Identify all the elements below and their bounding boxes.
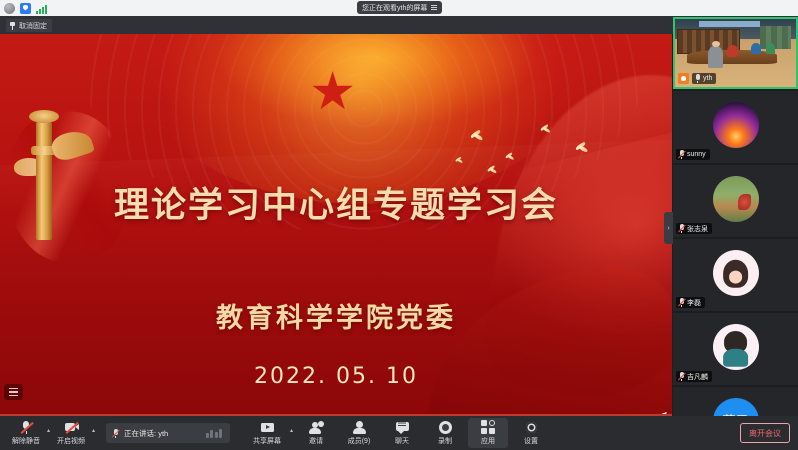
- audio-options-chevron-icon[interactable]: ▴: [47, 427, 50, 440]
- record-circle-icon: [438, 421, 453, 434]
- unpin-button[interactable]: 取消固定: [6, 19, 52, 32]
- person-icon: [352, 421, 367, 434]
- mic-muted-icon: [19, 421, 34, 434]
- participant-rail[interactable]: yth sunny 张志泉 李磊: [673, 17, 798, 416]
- grid-apps-icon: [481, 420, 495, 434]
- chat-bubble-icon: [395, 421, 410, 434]
- apps-button[interactable]: 应用: [468, 418, 508, 448]
- slide-title: 理论学习中心组专题学习会: [0, 177, 672, 228]
- shared-screen-stage[interactable]: 理论学习中心组专题学习会 教育科学学院党委 2022. 05. 10: [0, 34, 672, 416]
- leave-meeting-button[interactable]: 离开会议: [740, 423, 790, 443]
- meeting-toolbar: 解除静音 ▴ 开启视频 ▴ 正在讲话: yth 共享屏幕 ▴ 邀请: [0, 416, 798, 450]
- mic-muted-icon: [678, 150, 685, 159]
- active-speaker-indicator: 正在讲话: yth: [106, 423, 230, 443]
- toolbar-left-group: 解除静音 ▴ 开启视频 ▴ 正在讲话: yth: [0, 421, 230, 446]
- chat-label: 聊天: [395, 436, 409, 446]
- participant-tile-jifanlin[interactable]: 吉凡麟: [673, 313, 798, 385]
- share-screen-button[interactable]: 共享屏幕: [247, 421, 287, 446]
- pin-icon: [9, 22, 16, 30]
- toolbar-center-group: 共享屏幕 ▴ 邀请 成员(9) 聊天 录制 应用: [247, 418, 551, 448]
- chat-button[interactable]: 聊天: [382, 421, 422, 446]
- members-label: 成员(9): [348, 436, 371, 446]
- mic-muted-icon: [678, 298, 685, 307]
- participant-name: yth: [703, 75, 712, 82]
- mic-icon: [112, 429, 119, 438]
- participant-name: 吉凡麟: [687, 372, 708, 382]
- participant-name-badge: 张志泉: [676, 223, 712, 234]
- signal-bars-icon[interactable]: [36, 3, 47, 14]
- participant-tile-yth[interactable]: yth: [673, 17, 798, 89]
- participant-name: sunny: [687, 151, 706, 158]
- slide-subtitle: 教育科学学院党委: [0, 296, 672, 335]
- shield-icon[interactable]: [20, 3, 31, 14]
- participant-tile-lilei[interactable]: 李磊: [673, 239, 798, 311]
- participant-name-badge: 李磊: [676, 297, 705, 308]
- active-speaker-label: 正在讲话: yth: [124, 428, 168, 439]
- unmute-button[interactable]: 解除静音: [6, 421, 46, 446]
- start-video-button[interactable]: 开启视频: [51, 421, 91, 446]
- start-video-label: 开启视频: [57, 436, 85, 446]
- screen-share-notice[interactable]: 您正在观看yth的屏幕: [357, 1, 442, 14]
- audio-waveform-icon: [206, 429, 223, 438]
- unmute-label: 解除静音: [12, 436, 40, 446]
- mic-icon: [694, 74, 701, 83]
- leave-meeting-label: 离开会议: [749, 428, 781, 439]
- invite-button[interactable]: 邀请: [296, 421, 336, 446]
- presentation-slide: 理论学习中心组专题学习会 教育科学学院党委 2022. 05. 10: [0, 34, 672, 414]
- record-label: 录制: [438, 436, 452, 446]
- mic-muted-icon: [678, 224, 685, 233]
- list-menu-icon[interactable]: [431, 5, 437, 10]
- participant-tile-zhangzhiquan[interactable]: 张志泉: [673, 165, 798, 237]
- avatar: 慕君: [713, 398, 759, 416]
- invite-label: 邀请: [309, 436, 323, 446]
- participant-tile-sunny[interactable]: sunny: [673, 91, 798, 163]
- gear-icon: [524, 421, 539, 434]
- members-button[interactable]: 成员(9): [339, 421, 379, 446]
- host-badge-icon: [678, 73, 689, 84]
- unpin-label: 取消固定: [19, 21, 47, 31]
- screen-share-icon: [259, 421, 274, 434]
- avatar: [713, 176, 759, 222]
- participant-name-badge: 吉凡麟: [676, 371, 712, 382]
- screen-share-notice-label: 您正在观看yth的屏幕: [362, 3, 427, 13]
- settings-button[interactable]: 设置: [511, 421, 551, 446]
- record-button[interactable]: 录制: [425, 421, 465, 446]
- participant-name-badge: sunny: [676, 149, 710, 160]
- participant-name: 张志泉: [687, 224, 708, 234]
- add-person-icon: [309, 421, 324, 434]
- meeting-window: 取消固定 您正在观看yth的屏幕 18:03 演讲者视图 ▾: [0, 0, 798, 450]
- settings-label: 设置: [524, 436, 538, 446]
- camera-off-icon: [64, 421, 79, 434]
- avatar: [713, 250, 759, 296]
- apps-label: 应用: [481, 436, 495, 446]
- mic-muted-icon: [678, 372, 685, 381]
- avatar: [713, 102, 759, 148]
- participant-name-badge: yth: [692, 73, 716, 84]
- video-options-chevron-icon[interactable]: ▴: [92, 427, 95, 440]
- participant-tile-mujun[interactable]: 慕君 ⌄: [673, 387, 798, 416]
- slide-date: 2022. 05. 10: [0, 364, 672, 389]
- avatar: [713, 324, 759, 370]
- slide-menu-icon[interactable]: [4, 384, 23, 400]
- share-options-chevron-icon[interactable]: ▴: [290, 427, 293, 440]
- participant-name: 李磊: [687, 298, 701, 308]
- collapse-rail-handle[interactable]: ›: [664, 212, 673, 244]
- record-indicator-icon[interactable]: [4, 3, 15, 14]
- share-screen-label: 共享屏幕: [253, 436, 281, 446]
